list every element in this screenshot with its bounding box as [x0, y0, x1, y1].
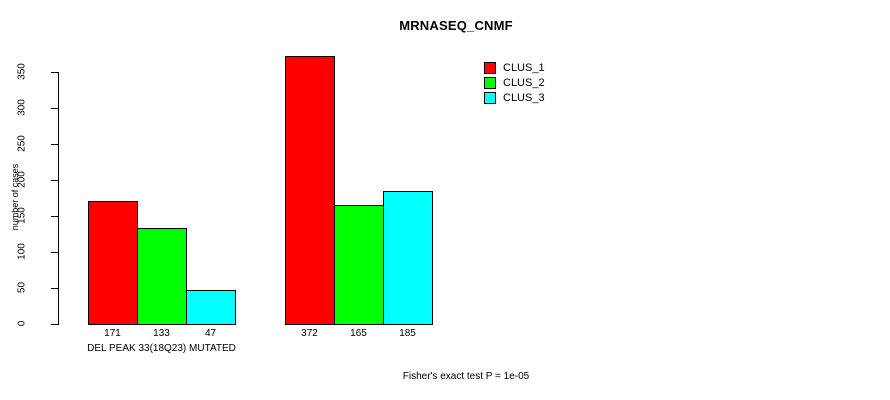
legend-swatch-clus-1: [484, 62, 496, 74]
footer-annotation: Fisher's exact test P = 1e-05: [0, 371, 890, 382]
legend-item[interactable]: CLUS_1: [484, 60, 545, 75]
legend-swatch-clus-3: [484, 92, 496, 104]
x-axis-group-label: DEL PEAK 33(18Q23) MUTATED: [63, 343, 260, 354]
legend-label-clus-3: CLUS_3: [503, 92, 545, 104]
bar-value-label: 47: [186, 328, 235, 339]
legend-item[interactable]: CLUS_3: [484, 90, 545, 105]
bar-value-label: 185: [383, 328, 432, 339]
footer-annotation-text: Fisher's exact test P = 1e-05: [403, 371, 530, 382]
y-axis-tick: [51, 108, 58, 109]
legend-item[interactable]: CLUS_2: [484, 75, 545, 90]
y-axis-tick: [51, 252, 58, 253]
legend-label-clus-1: CLUS_1: [503, 62, 545, 74]
y-axis-tick: [51, 144, 58, 145]
bar-clus-1[interactable]: [285, 56, 335, 325]
bar-clus-3[interactable]: [383, 191, 433, 325]
bar-value-label: 165: [334, 328, 383, 339]
chart-title: MRNASEQ_CNMF: [0, 18, 890, 33]
y-axis-line: [58, 72, 59, 325]
bar-value-label: 133: [137, 328, 186, 339]
y-axis-tick: [51, 324, 58, 325]
bar-chart-figure: MRNASEQ_CNMF number of cases 05010015020…: [0, 0, 890, 400]
y-axis-tick: [51, 216, 58, 217]
chart-title-text: MRNASEQ_CNMF: [399, 18, 513, 33]
bar-clus-2[interactable]: [137, 228, 187, 325]
y-axis-tick-label: 350: [17, 50, 28, 94]
bar-value-label: 171: [88, 328, 137, 339]
y-axis-tick: [51, 288, 58, 289]
bar-value-label: 372: [285, 328, 334, 339]
y-axis-tick: [51, 180, 58, 181]
y-axis-tick: [51, 72, 58, 73]
bar-clus-2[interactable]: [334, 205, 384, 325]
bar-clus-3[interactable]: [186, 290, 236, 325]
legend-swatch-clus-2: [484, 77, 496, 89]
bar-clus-1[interactable]: [88, 201, 138, 325]
legend-label-clus-2: CLUS_2: [503, 77, 545, 89]
legend: CLUS_1 CLUS_2 CLUS_3: [484, 60, 545, 105]
